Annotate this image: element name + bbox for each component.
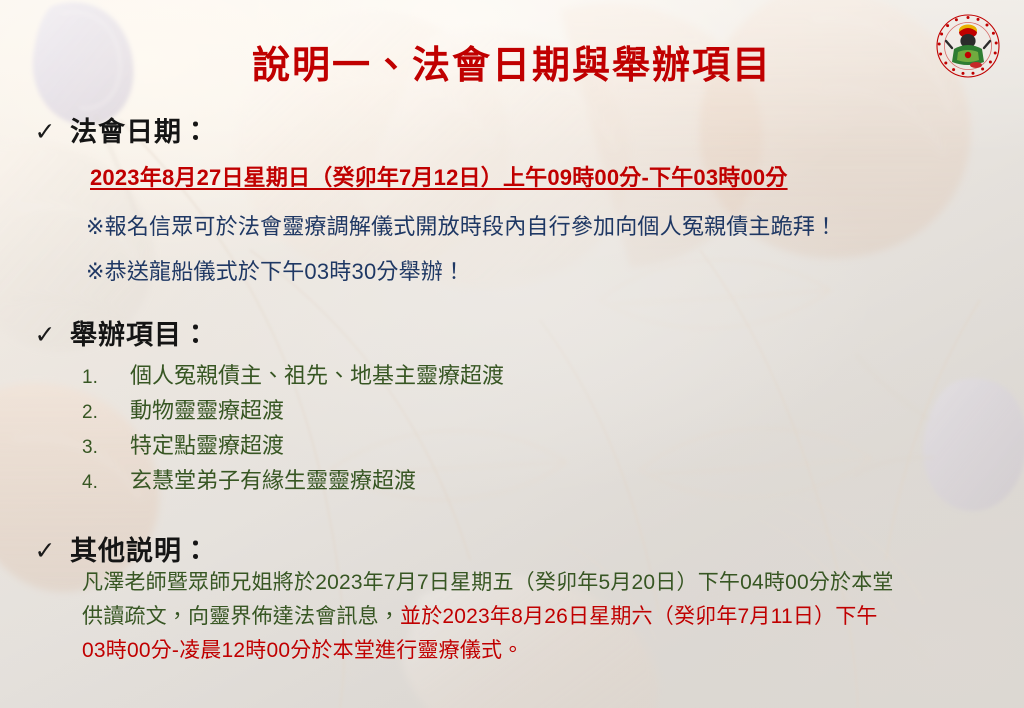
list-marker: 1. xyxy=(82,367,108,389)
list-text: 特定點靈療超渡 xyxy=(130,428,284,460)
list-text: 玄慧堂弟子有緣生靈靈療超渡 xyxy=(130,463,416,495)
list-item: 4. 玄慧堂弟子有緣生靈靈療超渡 xyxy=(82,463,504,498)
section-heading-other-label: 其他説明： xyxy=(70,529,210,568)
section-heading-date-label: 法會日期： xyxy=(70,110,210,149)
programs-list: 1. 個人冤親債主、祖先、地基主靈療超渡 2. 動物靈靈療超渡 3. 特定點靈療… xyxy=(82,358,504,498)
other-paragraph: 凡澤老師暨眾師兄姐將於2023年7月7日星期五（癸卯年5月20日）下午04時00… xyxy=(82,566,982,668)
paragraph-line: 供讀疏文，向靈界佈達法會訊息，並於2023年8月26日星期六（癸卯年7月11日）… xyxy=(82,600,982,634)
list-marker: 2. xyxy=(82,402,108,424)
list-item: 3. 特定點靈療超渡 xyxy=(82,428,504,463)
list-text: 個人冤親債主、祖先、地基主靈療超渡 xyxy=(130,358,504,390)
slide-canvas: 說明一、法會日期與舉辦項目 ✓ 法會日期： 2023年8月27日星期日（癸卯年7… xyxy=(0,0,1024,708)
paragraph-segment-highlight: 並於2023年8月26日星期六（癸卯年7月11日）下午 xyxy=(400,605,878,628)
paragraph-segment: 供讀疏文，向靈界佈達法會訊息， xyxy=(82,605,400,628)
check-icon: ✓ xyxy=(34,117,56,147)
paragraph-segment: 凡澤老師暨眾師兄姐將於2023年7月7日星期五（癸卯年5月20日）下午04時00… xyxy=(82,571,894,594)
paragraph-line: 凡澤老師暨眾師兄姐將於2023年7月7日星期五（癸卯年5月20日）下午04時00… xyxy=(82,566,982,600)
slide-content: 說明一、法會日期與舉辦項目 ✓ 法會日期： 2023年8月27日星期日（癸卯年7… xyxy=(0,0,1024,708)
section-heading-programs: ✓ 舉辦項目： xyxy=(34,313,210,352)
list-item: 2. 動物靈靈療超渡 xyxy=(82,393,504,428)
check-icon: ✓ xyxy=(34,320,56,350)
list-item: 1. 個人冤親債主、祖先、地基主靈療超渡 xyxy=(82,358,504,393)
date-note-dragon-boat: ※恭送龍船儀式於下午03時30分舉辦！ xyxy=(86,254,465,286)
date-line-main: 2023年8月27日星期日（癸卯年7月12日）上午09時00分-下午03時00分 xyxy=(90,160,788,192)
date-note-kneel: ※報名信眾可於法會靈療調解儀式開放時段內自行參加向個人冤親債主跪拜！ xyxy=(86,209,837,241)
list-marker: 4. xyxy=(82,472,108,494)
page-title: 說明一、法會日期與舉辦項目 xyxy=(0,34,1024,89)
section-heading-other: ✓ 其他説明： xyxy=(34,529,210,568)
list-marker: 3. xyxy=(82,437,108,459)
paragraph-segment-highlight: 03時00分-凌晨12時00分於本堂進行靈療儀式。 xyxy=(82,639,523,662)
check-icon: ✓ xyxy=(34,536,56,566)
list-text: 動物靈靈療超渡 xyxy=(130,393,284,425)
paragraph-line: 03時00分-凌晨12時00分於本堂進行靈療儀式。 xyxy=(82,634,982,668)
section-heading-date: ✓ 法會日期： xyxy=(34,110,210,149)
section-heading-programs-label: 舉辦項目： xyxy=(70,313,210,352)
